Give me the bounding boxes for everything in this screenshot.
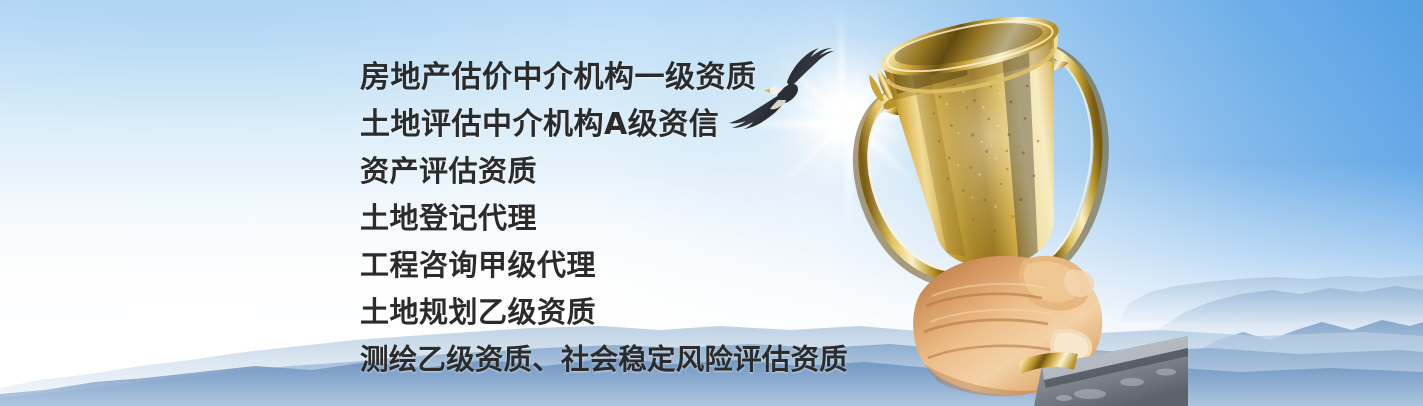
qualification-line-4: 土地登记代理 [360,195,980,242]
qualification-text-block: 房地产估价中介机构一级资质土地评估中介机构A级资信资产评估资质土地登记代理工程咨… [360,54,980,383]
qualification-line-1: 房地产估价中介机构一级资质 [360,54,980,101]
qualification-line-6: 土地规划乙级资质 [360,289,980,336]
qualification-line-2: 土地评估中介机构A级资信 [360,101,980,148]
qualification-line-3: 资产评估资质 [360,148,980,195]
qualification-line-7: 测绘乙级资质、社会稳定风险评估资质 [360,336,980,383]
qualification-line-5: 工程咨询甲级代理 [360,242,980,289]
promo-banner: 房地产估价中介机构一级资质土地评估中介机构A级资信资产评估资质土地登记代理工程咨… [0,0,1423,406]
